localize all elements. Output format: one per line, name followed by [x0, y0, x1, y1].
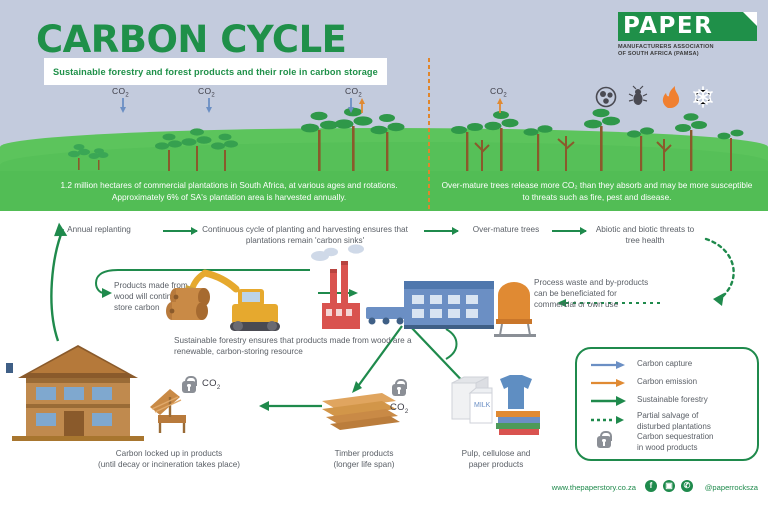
- page-subtitle: Sustainable forestry and forest products…: [53, 67, 378, 77]
- lock-keyhole: [187, 384, 191, 388]
- legend-arrow-partial-salvage: [591, 415, 631, 425]
- deck-chair-icon: [150, 389, 186, 433]
- co2-label-2: CO2: [198, 86, 215, 99]
- legend-arrow-carbon-capture: [591, 360, 631, 370]
- co2-label-house: CO2: [202, 378, 221, 391]
- legend-partial-line2: disturbed plantations: [637, 422, 749, 433]
- co2-arrows-3: [348, 98, 374, 118]
- co2-label-4: CO2: [490, 86, 507, 99]
- section-divider: [428, 58, 430, 211]
- fire-icon: [663, 86, 679, 108]
- legend-seq-line2: in wood products: [637, 443, 753, 454]
- legend-label-carbon-capture: Carbon capture: [637, 359, 692, 370]
- legend-lock-keyhole: [602, 439, 606, 443]
- label-house-products: Carbon locked up in products (until deca…: [34, 448, 304, 470]
- logo-wordmark: PAPER: [623, 13, 713, 39]
- legend-partial-line1: Partial salvage of: [637, 411, 749, 422]
- lock-body: [182, 381, 196, 393]
- legend-label-carbon-sequestration: Carbon sequestration in wood products: [637, 432, 753, 453]
- label-timber-products: Timber products (longer life span): [312, 448, 416, 470]
- legend-lock-icon: [597, 436, 611, 448]
- logs-pile-icon: [166, 288, 210, 320]
- instagram-icon[interactable]: ▣: [663, 480, 675, 492]
- lock-icon-timber: [392, 384, 406, 396]
- caption-right: Over-mature trees release more CO₂ than …: [438, 180, 756, 203]
- factory-conveyor-icon: [366, 281, 494, 329]
- label-house-line2: (until decay or incineration takes place…: [34, 459, 304, 470]
- legend-box: Carbon capture Carbon emission Sustainab…: [575, 347, 759, 461]
- co2-label-timber: CO2: [390, 402, 409, 415]
- label-pulp-line2: paper products: [440, 459, 552, 470]
- label-pulp-products: Pulp, cellulose and paper products: [440, 448, 552, 470]
- co2-label-1: CO2: [112, 86, 129, 99]
- footer-handle[interactable]: @paperrocksza: [705, 483, 758, 492]
- infographic-page: CARBON CYCLE Sustainable forestry and fo…: [0, 0, 768, 511]
- label-timber-line2: (longer life span): [312, 459, 416, 470]
- footer: www.thepaperstory.co.za f ▣ ✆ @paperrock…: [0, 478, 768, 504]
- legend-arrow-carbon-emission: [591, 378, 631, 388]
- logo-subtitle-line2: OF SOUTH AFRICA (PAMSA): [618, 51, 758, 58]
- legend-label-partial-salvage: Partial salvage of disturbed plantations: [637, 411, 749, 432]
- label-house-line1: Carbon locked up in products: [34, 448, 304, 459]
- threat-icon-row: [595, 86, 735, 112]
- mill-building-icon: [311, 244, 364, 329]
- logo-subtitle: MANUFACTURERS ASSOCIATION OF SOUTH AFRIC…: [618, 44, 758, 58]
- legend-seq-line1: Carbon sequestration: [637, 432, 753, 443]
- house-icon: [6, 345, 144, 441]
- lock-icon-house: [182, 381, 196, 393]
- pest-beetle-icon: [629, 86, 647, 105]
- page-title: CARBON CYCLE: [36, 18, 346, 61]
- co2-label-3: CO2: [345, 86, 362, 99]
- logo-subtitle-line1: MANUFACTURERS ASSOCIATION: [618, 44, 758, 51]
- logo-page-fold-icon: [743, 12, 757, 26]
- fungus-disease-icon: [597, 88, 616, 107]
- label-pulp-line1: Pulp, cellulose and: [440, 448, 552, 459]
- pamsa-logo: PAPER MANUFACTURERS ASSOCIATION OF SOUTH…: [618, 12, 758, 58]
- frost-snowflake-icon: [694, 87, 712, 107]
- storage-tank-icon: [494, 282, 536, 337]
- legend-label-carbon-emission: Carbon emission: [637, 377, 697, 388]
- logo-box: PAPER: [618, 12, 757, 41]
- svg-text:MILK: MILK: [474, 402, 491, 409]
- twitter-icon[interactable]: ✆: [681, 480, 693, 492]
- footer-url[interactable]: www.thepaperstory.co.za: [552, 483, 636, 492]
- co2-arrow-down-2: [206, 98, 226, 118]
- lock-keyhole-timber: [397, 387, 401, 391]
- co2-arrow-down-1: [120, 98, 140, 118]
- caption-left: 1.2 million hectares of commercial plant…: [40, 180, 418, 203]
- lock-body-timber: [392, 384, 406, 396]
- paper-products-icon: MILK: [452, 375, 540, 435]
- label-timber-line1: Timber products: [312, 448, 416, 459]
- co2-arrow-up-4: [497, 98, 517, 118]
- legend-lock-body: [597, 436, 611, 448]
- subtitle-bar: Sustainable forestry and forest products…: [44, 58, 387, 85]
- facebook-icon[interactable]: f: [645, 480, 657, 492]
- legend-label-sustainable-forestry: Sustainable forestry: [637, 395, 708, 406]
- legend-arrow-sustainable-forestry: [591, 396, 631, 406]
- timber-planks-icon: [322, 393, 400, 430]
